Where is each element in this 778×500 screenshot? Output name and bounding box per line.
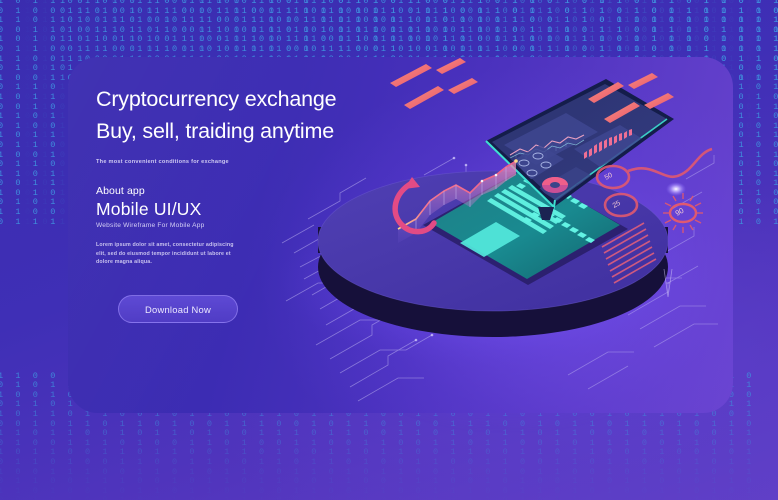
about-title: Mobile UI/UX [96,199,366,220]
about-label: About app [96,185,366,197]
donut-chart [542,177,568,193]
body-copy: Lorem ipsum dolor sit amet, consectetur … [96,241,244,267]
hero-copy: Cryptocurrency exchange Buy, sell, traid… [96,84,366,267]
page-subtitle: Buy, sell, traiding anytime [96,116,366,146]
page-title: Cryptocurrency exchange [96,84,366,114]
hero-banner-page: 1 0 1 1 0 1 0 0 1 1 0 1 1 0 0 1 0 1 1 0 … [0,0,778,500]
gear-gauge-90-label: 90 [674,206,686,218]
gear-gauge-90: 90 [663,193,703,233]
gauge-connector-wire [628,149,712,177]
download-now-button[interactable]: Download Now [118,295,238,323]
tagline: The most convenient conditions for excha… [96,159,366,165]
hero-card: 50 25 90 [68,57,733,413]
about-subtitle: Website Wireframe For Mobile App [96,222,366,229]
glow-spark [666,182,686,196]
ring-gauge-50-label: 50 [604,172,614,182]
